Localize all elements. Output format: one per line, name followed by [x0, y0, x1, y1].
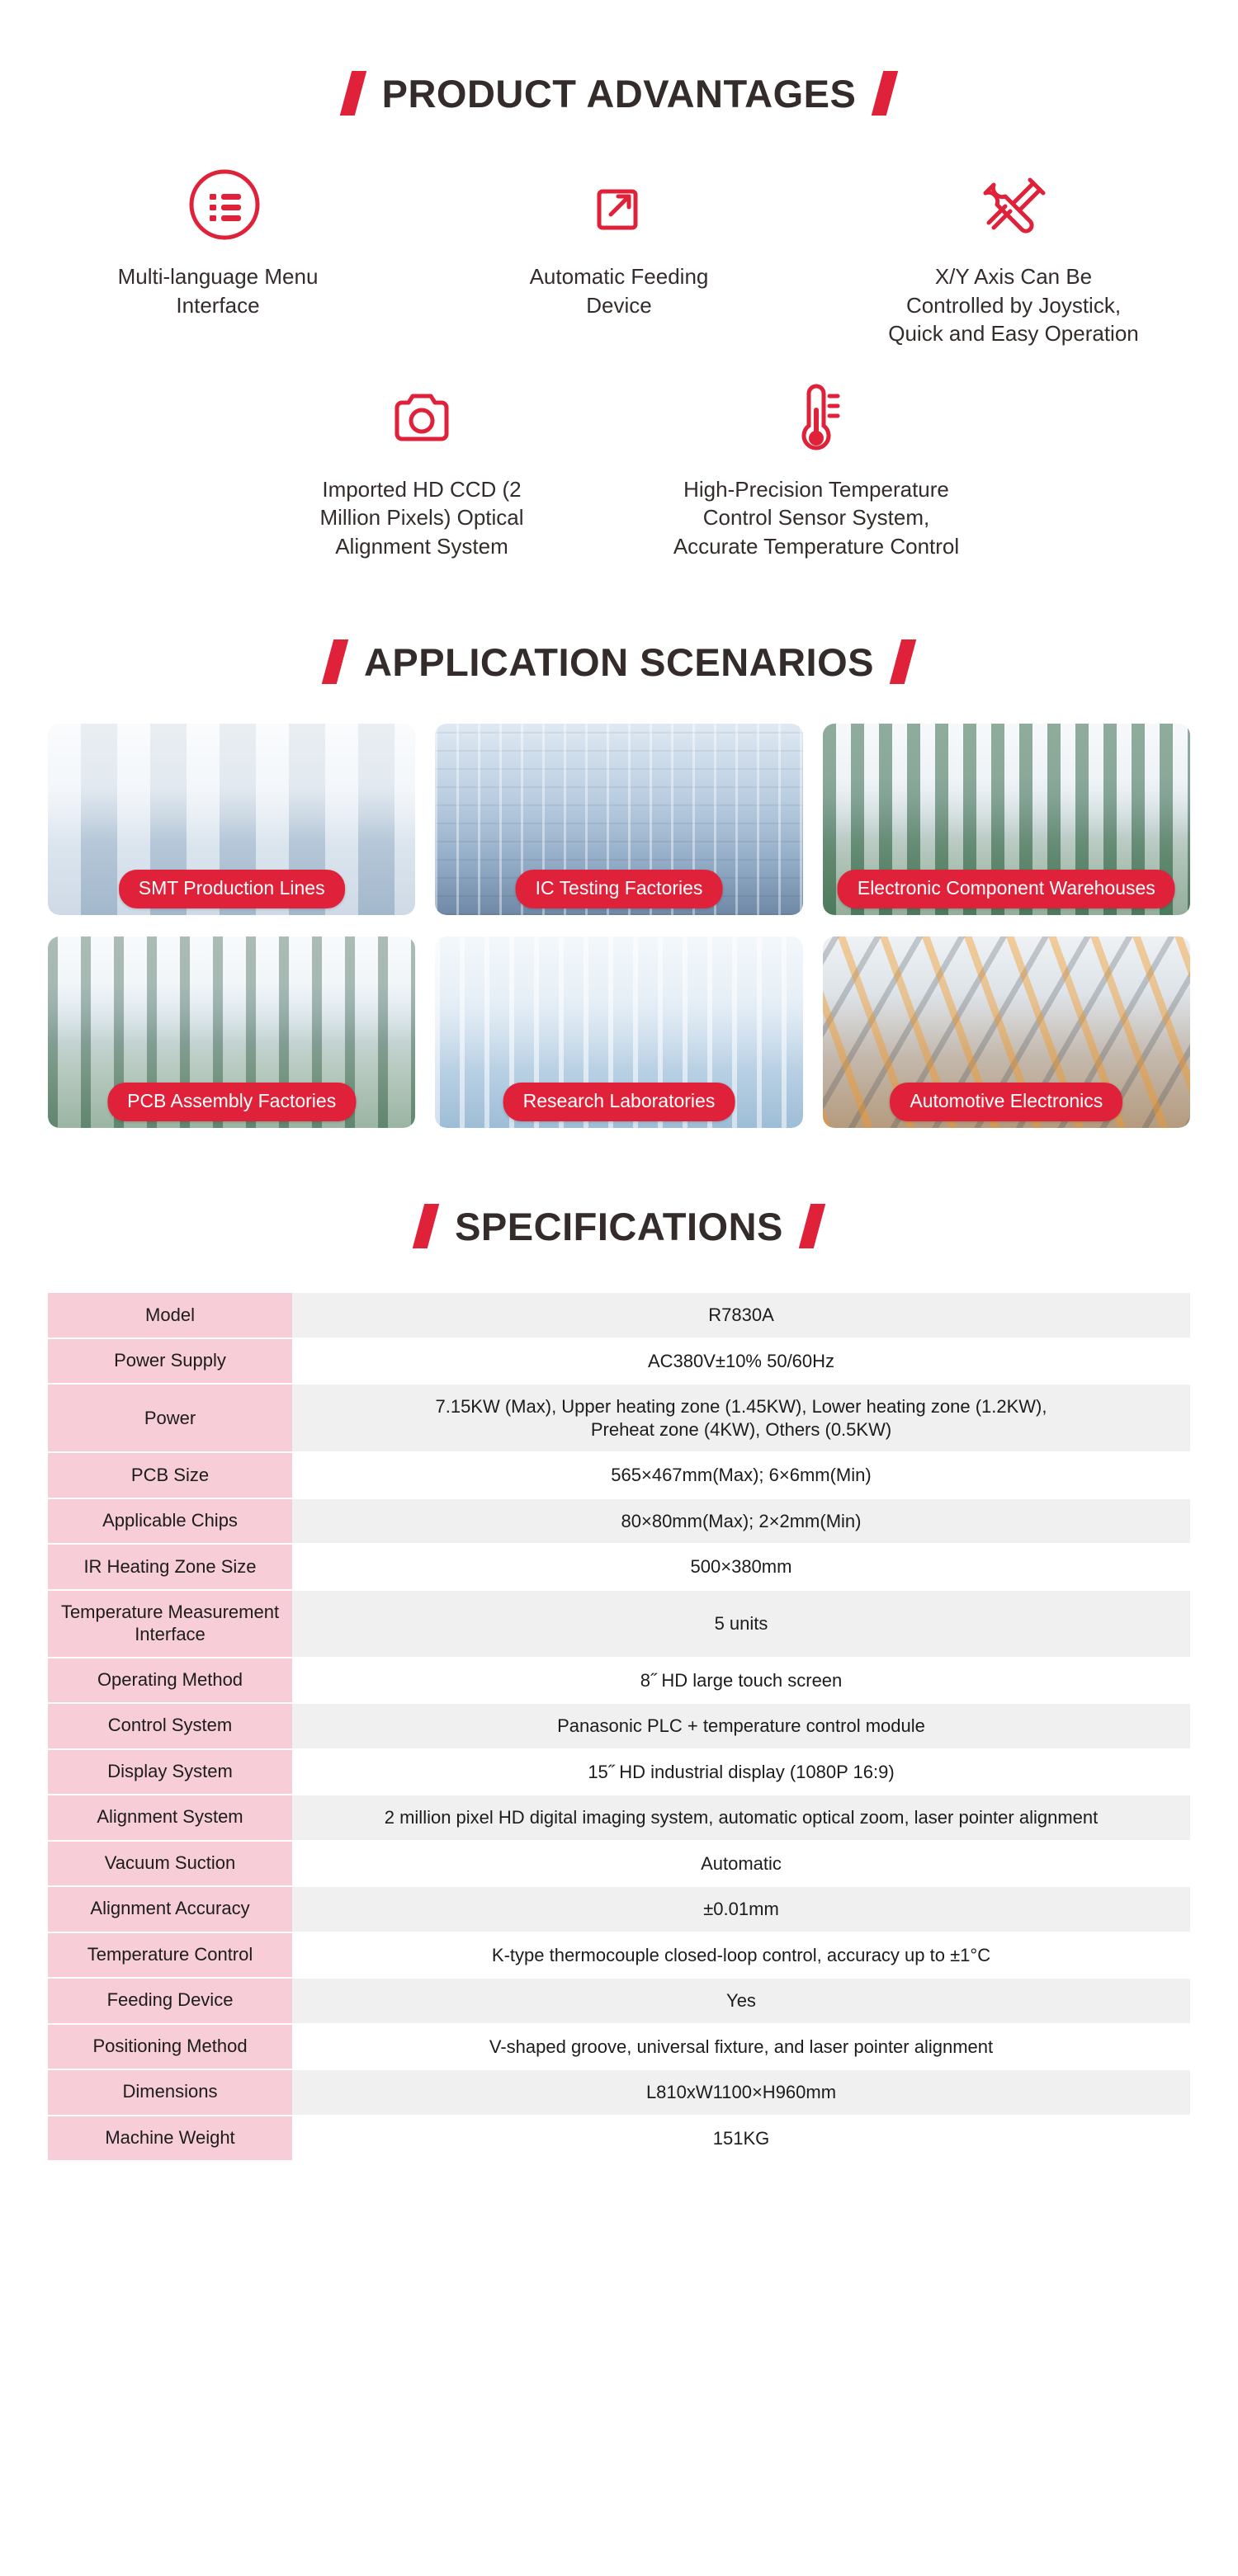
spec-key-cell: Display System: [48, 1750, 292, 1795]
spec-key-cell: Control System: [48, 1704, 292, 1748]
table-row: Applicable Chips80×80mm(Max); 2×2mm(Min): [48, 1499, 1190, 1544]
scenario-badge: SMT Production Lines: [119, 870, 345, 908]
tools-icon: [969, 160, 1058, 249]
spec-key-cell: Dimensions: [48, 2070, 292, 2115]
table-row: Alignment Accuracy±0.01mm: [48, 1887, 1190, 1932]
table-row: IR Heating Zone Size500×380mm: [48, 1545, 1190, 1589]
thermometer-icon: [778, 373, 854, 462]
spec-value-cell: ±0.01mm: [292, 1887, 1190, 1932]
advantage-label: High-Precision Temperature Control Senso…: [673, 475, 959, 561]
spec-value-cell: 5 units: [292, 1591, 1190, 1657]
spec-value-cell: 15˝ HD industrial display (1080P 16:9): [292, 1750, 1190, 1795]
advantage-label: Automatic Feeding Device: [530, 262, 709, 319]
table-row: DimensionsL810xW1100×H960mm: [48, 2070, 1190, 2115]
scenario-badge: IC Testing Factories: [516, 870, 723, 908]
spec-key-cell: PCB Size: [48, 1453, 292, 1498]
product-advantages-section: PRODUCT ADVANTAGES: [0, 0, 1238, 560]
table-row: Display System15˝ HD industrial display …: [48, 1750, 1190, 1795]
camera-icon: [380, 373, 463, 462]
specifications-section: SPECIFICATIONS ModelR7830APower SupplyAC…: [0, 1128, 1238, 2195]
advantage-item-automatic-feeding-device: Automatic Feeding Device: [422, 160, 816, 319]
applications-title: APPLICATION SCENARIOS: [364, 643, 874, 682]
table-row: Control SystemPanasonic PLC + temperatur…: [48, 1704, 1190, 1748]
advantage-label: Multi-language Menu Interface: [118, 262, 319, 319]
spec-key-cell: Temperature Measurement Interface: [48, 1591, 292, 1657]
table-row: Temperature Measurement Interface5 units: [48, 1591, 1190, 1657]
advantage-label: X/Y Axis Can Be Controlled by Joystick, …: [888, 262, 1139, 348]
spec-value-cell: V-shaped groove, universal fixture, and …: [292, 2025, 1190, 2069]
slash-left-icon: [413, 1204, 439, 1248]
specifications-table: ModelR7830APower SupplyAC380V±10% 50/60H…: [48, 1291, 1190, 2162]
slash-left-icon: [322, 639, 348, 684]
spec-key-cell: Positioning Method: [48, 2025, 292, 2069]
spec-value-cell: R7830A: [292, 1293, 1190, 1338]
advantage-label: Imported HD CCD (2 Million Pixels) Optic…: [319, 475, 523, 561]
slash-right-icon: [890, 639, 916, 684]
application-card-research-lab[interactable]: Research Laboratories: [435, 937, 802, 1128]
table-row: PCB Size565×467mm(Max); 6×6mm(Min): [48, 1453, 1190, 1498]
advantage-item-hd-ccd-alignment: Imported HD CCD (2 Million Pixels) Optic…: [224, 373, 619, 561]
scenario-badge: PCB Assembly Factories: [107, 1083, 356, 1121]
slash-right-icon: [872, 71, 898, 116]
spec-key-cell: Operating Method: [48, 1658, 292, 1703]
application-scenarios-section: APPLICATION SCENARIOS SMT Production Lin…: [0, 560, 1238, 1128]
table-row: Operating Method8˝ HD large touch screen: [48, 1658, 1190, 1703]
table-row: Positioning MethodV-shaped groove, unive…: [48, 2025, 1190, 2069]
advantage-item-multi-language-menu: Multi-language Menu Interface: [27, 160, 422, 319]
spec-value-cell: 2 million pixel HD digital imaging syste…: [292, 1795, 1190, 1840]
spec-value-cell: 80×80mm(Max); 2×2mm(Min): [292, 1499, 1190, 1544]
table-row: Alignment System2 million pixel HD digit…: [48, 1795, 1190, 1840]
advantage-item-xy-axis-joystick: X/Y Axis Can Be Controlled by Joystick, …: [816, 160, 1211, 348]
advantages-title: PRODUCT ADVANTAGES: [382, 74, 857, 113]
application-card-smt[interactable]: SMT Production Lines: [48, 724, 415, 915]
spec-key-cell: Power Supply: [48, 1339, 292, 1384]
specifications-heading: SPECIFICATIONS: [0, 1204, 1238, 1248]
feeding-arrow-icon: [581, 160, 657, 249]
advantages-row-2: Imported HD CCD (2 Million Pixels) Optic…: [0, 373, 1238, 561]
table-row: Vacuum SuctionAutomatic: [48, 1842, 1190, 1886]
specifications-title: SPECIFICATIONS: [455, 1207, 783, 1246]
spec-value-cell: 8˝ HD large touch screen: [292, 1658, 1190, 1703]
application-card-automotive[interactable]: Automotive Electronics: [823, 937, 1190, 1128]
slash-right-icon: [799, 1204, 825, 1248]
spec-key-cell: Applicable Chips: [48, 1499, 292, 1544]
spec-key-cell: Temperature Control: [48, 1933, 292, 1978]
table-row: Feeding DeviceYes: [48, 1979, 1190, 2023]
spec-key-cell: Model: [48, 1293, 292, 1338]
spec-key-cell: Feeding Device: [48, 1979, 292, 2023]
spec-key-cell: Alignment System: [48, 1795, 292, 1840]
table-row: Temperature ControlK-type thermocouple c…: [48, 1933, 1190, 1978]
spec-value-cell: 565×467mm(Max); 6×6mm(Min): [292, 1453, 1190, 1498]
spec-value-cell: K-type thermocouple closed-loop control,…: [292, 1933, 1190, 1978]
spec-key-cell: Power: [48, 1385, 292, 1451]
spec-key-cell: IR Heating Zone Size: [48, 1545, 292, 1589]
advantages-row-1: Multi-language Menu Interface Automatic …: [0, 160, 1238, 348]
table-row: ModelR7830A: [48, 1293, 1190, 1338]
advantage-item-temperature-control-sensor: High-Precision Temperature Control Senso…: [619, 373, 1014, 561]
spec-value-cell: Yes: [292, 1979, 1190, 2023]
list-circle-icon: [187, 160, 262, 249]
spec-key-cell: Machine Weight: [48, 2116, 292, 2161]
slash-left-icon: [339, 71, 366, 116]
table-row: Power SupplyAC380V±10% 50/60Hz: [48, 1339, 1190, 1384]
advantages-list: Multi-language Menu Interface Automatic …: [0, 160, 1238, 560]
spec-value-cell: Automatic: [292, 1842, 1190, 1886]
scenario-badge: Electronic Component Warehouses: [838, 870, 1175, 908]
scenario-badge: Automotive Electronics: [890, 1083, 1122, 1121]
spec-key-cell: Alignment Accuracy: [48, 1887, 292, 1932]
application-card-pcb-assembly[interactable]: PCB Assembly Factories: [48, 937, 415, 1128]
applications-heading: APPLICATION SCENARIOS: [0, 639, 1238, 684]
spec-key-cell: Vacuum Suction: [48, 1842, 292, 1886]
spec-value-cell: L810xW1100×H960mm: [292, 2070, 1190, 2115]
spec-value-cell: 151KG: [292, 2116, 1190, 2161]
application-cards-grid: SMT Production Lines IC Testing Factorie…: [48, 724, 1190, 1128]
scenario-badge: Research Laboratories: [503, 1083, 735, 1121]
product-page: PRODUCT ADVANTAGES: [0, 0, 1238, 2576]
advantages-heading: PRODUCT ADVANTAGES: [0, 71, 1238, 116]
specifications-table-body: ModelR7830APower SupplyAC380V±10% 50/60H…: [48, 1293, 1190, 2160]
application-card-warehouse[interactable]: Electronic Component Warehouses: [823, 724, 1190, 915]
table-row: Power7.15KW (Max), Upper heating zone (1…: [48, 1385, 1190, 1451]
table-row: Machine Weight151KG: [48, 2116, 1190, 2161]
application-card-ic-testing[interactable]: IC Testing Factories: [435, 724, 802, 915]
spec-value-cell: AC380V±10% 50/60Hz: [292, 1339, 1190, 1384]
spec-value-cell: 7.15KW (Max), Upper heating zone (1.45KW…: [292, 1385, 1190, 1451]
spec-value-cell: 500×380mm: [292, 1545, 1190, 1589]
spec-value-cell: Panasonic PLC + temperature control modu…: [292, 1704, 1190, 1748]
